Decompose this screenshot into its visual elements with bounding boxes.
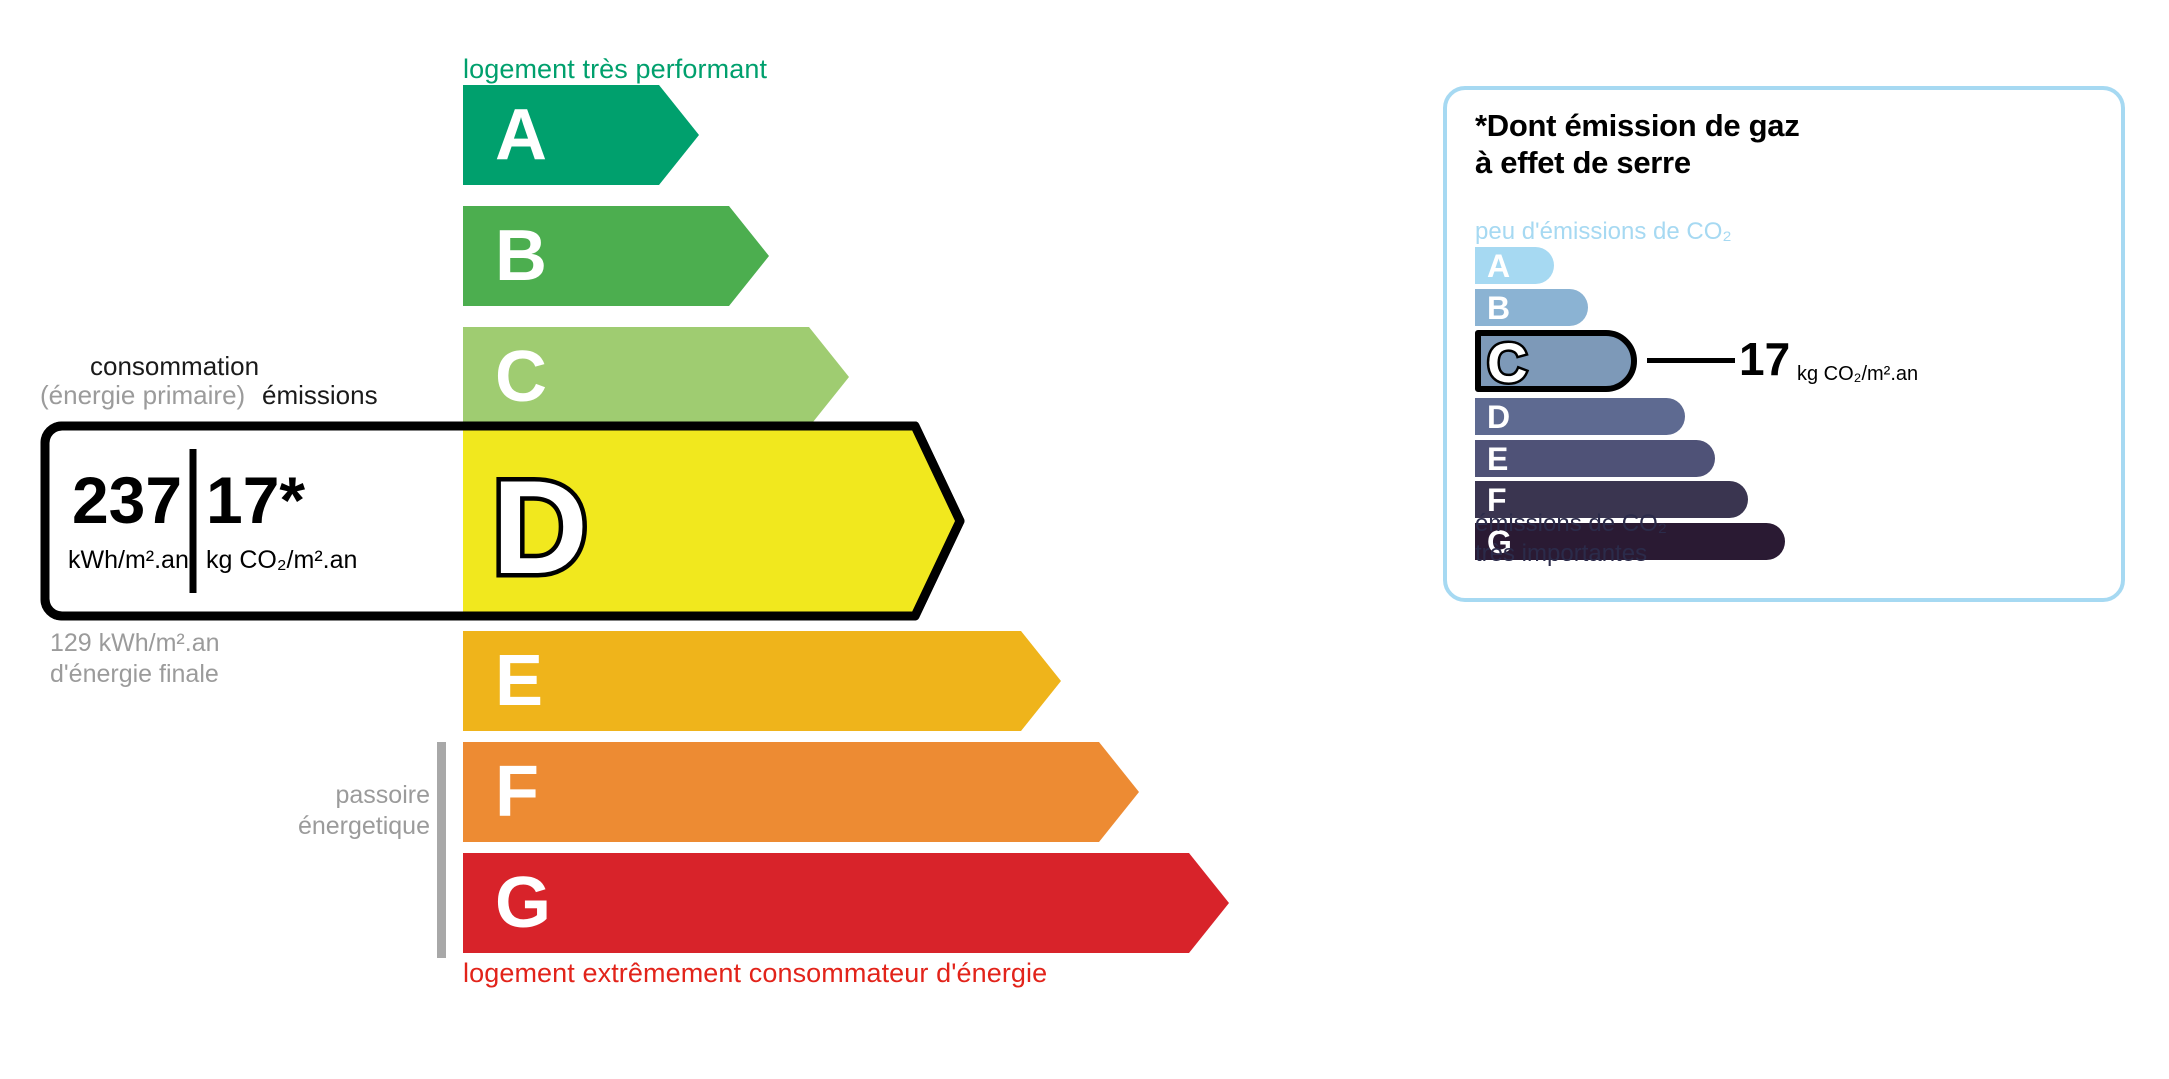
energy-arrow-e — [463, 631, 1061, 731]
passoire-energetique-label: passoire énergetique — [200, 780, 430, 843]
energy-class-row-b[interactable]: B — [463, 206, 769, 306]
energy-class-letter-g: G — [495, 867, 551, 939]
ghg-panel-title-line-2: à effet de serre — [1475, 145, 1799, 182]
energy-arrow-f — [463, 742, 1139, 842]
energy-arrow-g — [463, 853, 1229, 953]
energy-class-letter-b: B — [495, 220, 547, 292]
ghg-class-letter-a: A — [1487, 250, 1510, 282]
selected-class-panel[interactable]: consommation (énergie primaire) émission… — [40, 421, 965, 621]
energy-class-row-c[interactable]: C — [463, 327, 849, 427]
ghg-value-unit: kg CO₂/m².an — [1797, 363, 1918, 386]
energy-class-letter-a: A — [495, 99, 547, 171]
emission-unit: kg CO₂/m².an — [206, 546, 446, 575]
ghg-class-letter-d: D — [1487, 401, 1510, 433]
final-energy-note: 129 kWh/m².an d'énergie finale — [50, 628, 220, 691]
scale-bottom-caption: logement extrêmement consommateur d'éner… — [463, 958, 1047, 989]
ghg-class-row-c-selected[interactable]: C — [1475, 330, 1639, 392]
consumption-header-sublabel: (énergie primaire) — [40, 380, 245, 411]
primary-energy-unit: kWh/m².an — [68, 546, 186, 575]
energy-class-letter-f: F — [495, 756, 539, 828]
ghg-value: 17 — [1739, 336, 1790, 382]
svg-text:C: C — [1487, 331, 1527, 394]
ghg-top-caption: peu d'émissions de CO₂ — [1475, 218, 1732, 246]
ghg-leader-line — [1647, 358, 1735, 363]
ghg-bottom-caption-line-2: très importantes — [1475, 539, 1667, 569]
energy-class-row-g[interactable]: G — [463, 853, 1229, 953]
ghg-class-row-a[interactable]: A — [1475, 247, 1554, 284]
final-energy-value: 129 kWh/m².an — [50, 628, 220, 659]
energy-class-letter-c: C — [495, 341, 547, 413]
final-energy-label: d'énergie finale — [50, 659, 220, 690]
emissions-header-label: émissions — [262, 380, 378, 411]
ghg-class-row-e[interactable]: E — [1475, 440, 1715, 477]
energy-class-letter-e: E — [495, 645, 543, 717]
ghg-selected-outline: C — [1475, 330, 1639, 392]
ghg-bottom-caption-line-1: émissions de CO₂ — [1475, 509, 1667, 539]
energy-class-row-e[interactable]: E — [463, 631, 1061, 731]
energy-class-row-a[interactable]: A — [463, 85, 699, 185]
scale-top-caption: logement très performant — [463, 54, 767, 85]
ghg-class-row-d[interactable]: D — [1475, 398, 1685, 435]
ghg-class-row-b[interactable]: B — [1475, 289, 1588, 326]
energy-class-row-f[interactable]: F — [463, 742, 1139, 842]
svg-text:D: D — [492, 454, 588, 602]
ghg-emissions-panel: *Dont émission de gaz à effet de serre p… — [1443, 86, 2125, 602]
energy-performance-scale: logement très performant A B C E F — [0, 0, 1380, 1079]
ghg-class-letter-e: E — [1487, 443, 1508, 475]
ghg-panel-title-line-1: *Dont émission de gaz — [1475, 108, 1799, 145]
emission-value: 17* — [206, 467, 446, 533]
ghg-panel-title: *Dont émission de gaz à effet de serre — [1475, 108, 1799, 181]
consumption-header-label: consommation — [90, 351, 259, 382]
ghg-bottom-caption: émissions de CO₂ très importantes — [1475, 509, 1667, 569]
ghg-class-letter-b: B — [1487, 292, 1510, 324]
passoire-line-2: énergetique — [200, 811, 430, 842]
passoire-line-1: passoire — [200, 780, 430, 811]
ghg-bar-e — [1475, 440, 1715, 477]
passoire-energetique-bar — [437, 742, 446, 958]
primary-energy-value: 237 — [68, 467, 186, 533]
